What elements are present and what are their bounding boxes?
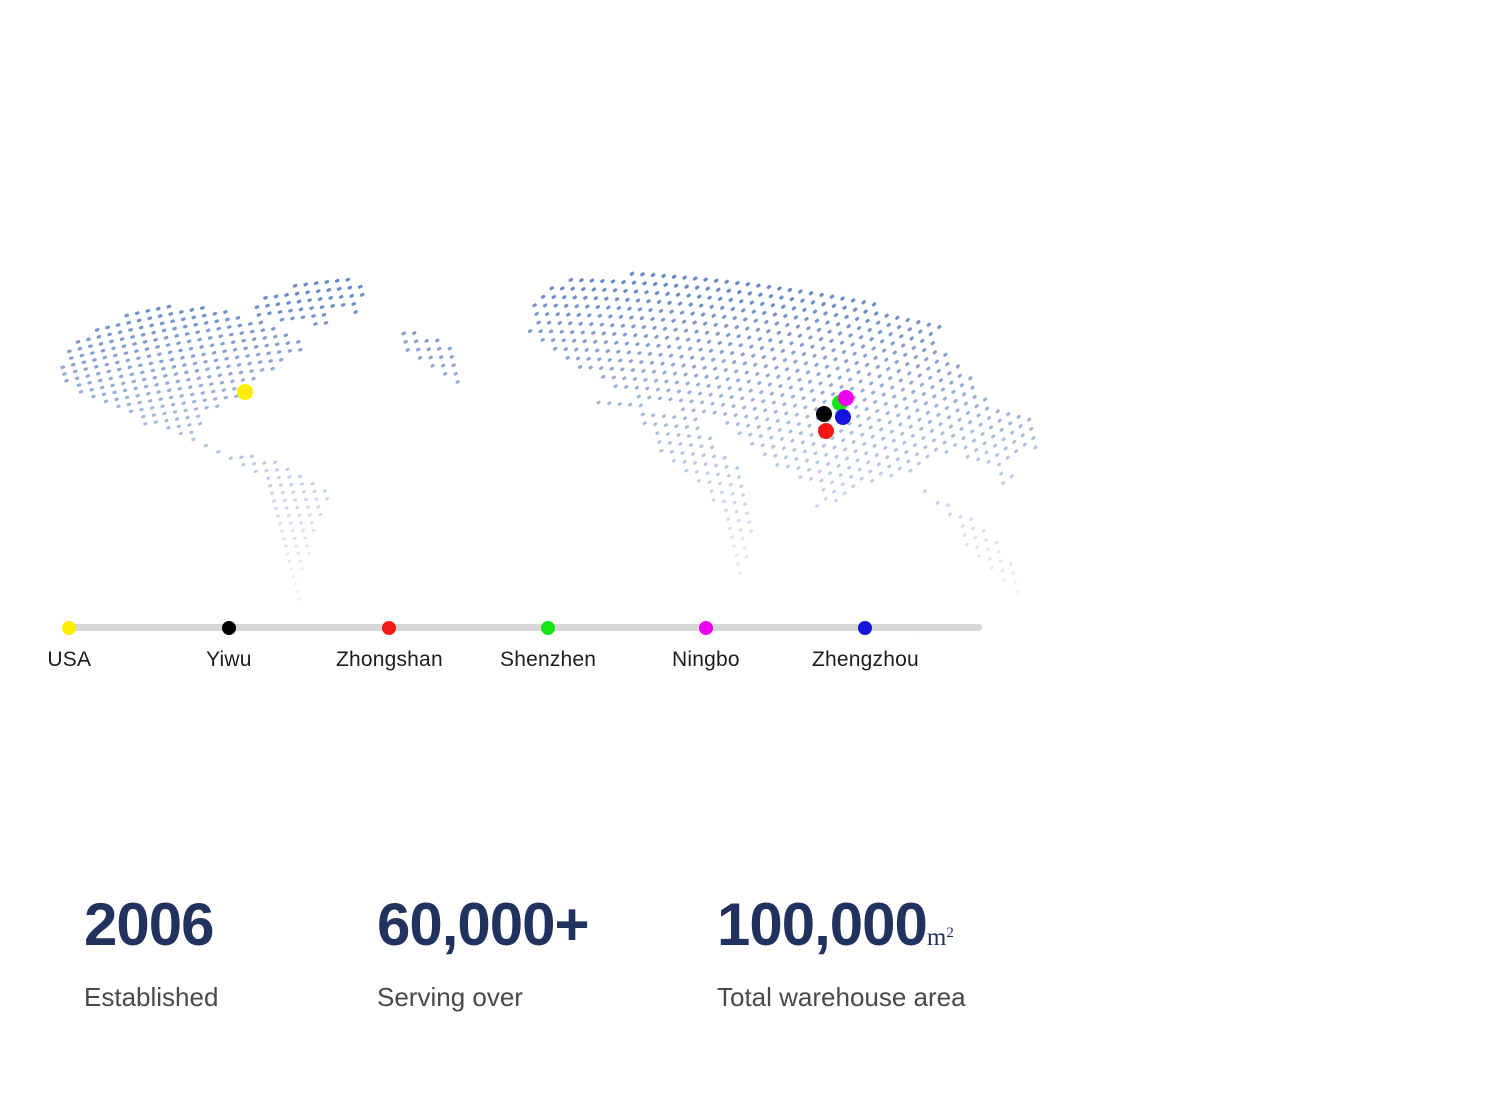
timeline-stop-label: Yiwu bbox=[169, 648, 289, 672]
zhongshan-marker[interactable] bbox=[818, 423, 834, 439]
stat-caption: Serving over bbox=[377, 983, 589, 1012]
timeline-dot-icon[interactable] bbox=[858, 621, 872, 635]
stat-unit: m2 bbox=[927, 924, 954, 951]
usa-marker[interactable] bbox=[237, 384, 253, 400]
timeline-stop-label: Zhongshan bbox=[329, 648, 449, 672]
stat-value: 60,000+ bbox=[377, 895, 589, 955]
stat-caption: Established bbox=[84, 983, 218, 1012]
timeline-stop-label: USA bbox=[9, 648, 129, 672]
timeline-dot-icon[interactable] bbox=[699, 621, 713, 635]
company-stats: 2006 Established 60,000+ Serving over 10… bbox=[0, 895, 1100, 1055]
world-map-section bbox=[0, 0, 1060, 640]
stat-warehouse-area: 100,000m2 Total warehouse area bbox=[717, 895, 966, 1012]
zhengzhou-marker[interactable] bbox=[835, 409, 851, 425]
timeline-dot-icon[interactable] bbox=[541, 621, 555, 635]
ningbo-marker[interactable] bbox=[838, 390, 854, 406]
stat-value: 100,000m2 bbox=[717, 895, 966, 955]
stat-value: 2006 bbox=[84, 895, 218, 955]
yiwu-marker[interactable] bbox=[816, 406, 832, 422]
locations-timeline: USAYiwuZhongshanShenzhenNingboZhengzhou bbox=[70, 600, 982, 696]
map-dot-grid bbox=[60, 271, 1038, 640]
timeline-dot-icon[interactable] bbox=[222, 621, 236, 635]
timeline-stop-label: Zhengzhou bbox=[805, 648, 925, 672]
timeline-stop-label: Shenzhen bbox=[488, 648, 608, 672]
timeline-stop-label: Ningbo bbox=[646, 648, 766, 672]
stat-unit-exponent: 2 bbox=[946, 925, 954, 941]
timeline-dot-icon[interactable] bbox=[382, 621, 396, 635]
stat-established: 2006 Established bbox=[84, 895, 218, 1012]
timeline-track bbox=[70, 624, 982, 631]
timeline-dot-icon[interactable] bbox=[62, 621, 76, 635]
dotted-world-map bbox=[0, 0, 1060, 640]
stat-caption: Total warehouse area bbox=[717, 983, 966, 1012]
stat-customers: 60,000+ Serving over bbox=[377, 895, 589, 1012]
